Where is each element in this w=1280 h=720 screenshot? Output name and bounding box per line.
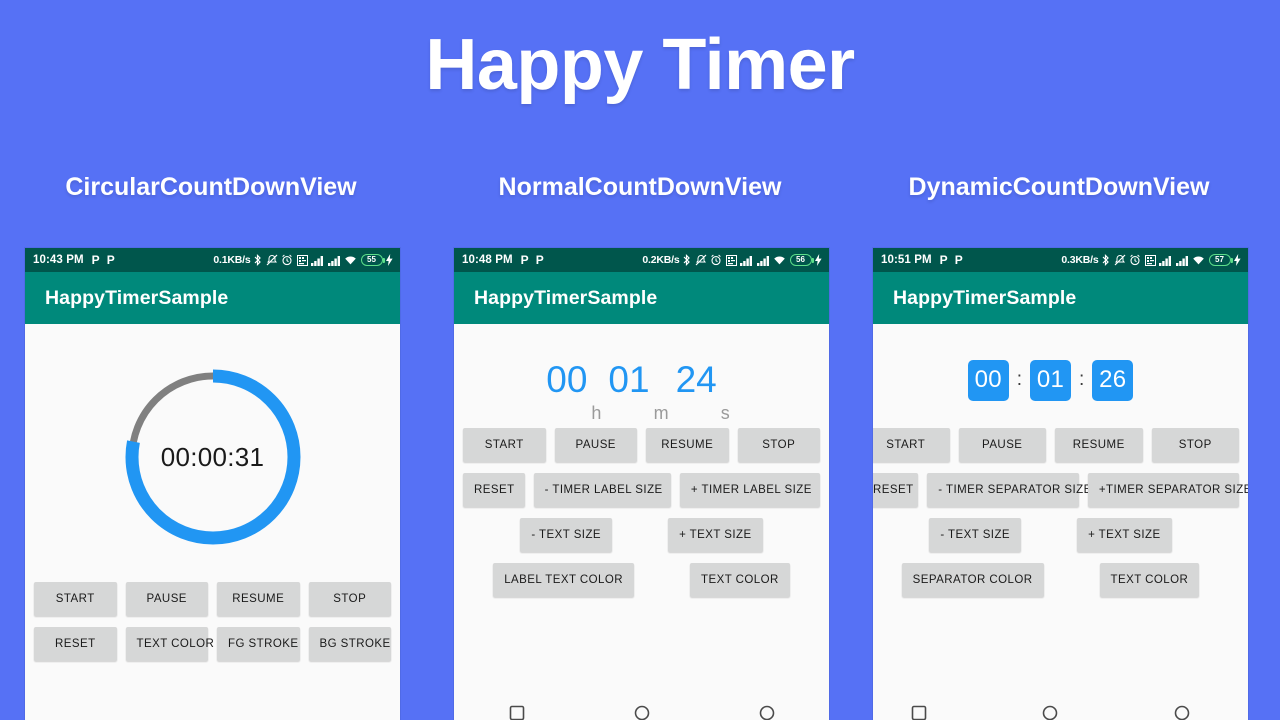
- start-button[interactable]: START: [463, 428, 546, 462]
- resume-button[interactable]: RESUME: [217, 582, 300, 616]
- seconds-label: s: [721, 403, 730, 428]
- start-button[interactable]: START: [873, 428, 950, 462]
- seconds-box: 26: [1092, 360, 1133, 401]
- wifi-icon: [1192, 255, 1205, 266]
- increase-text-size-button[interactable]: + TEXT SIZE: [668, 518, 763, 552]
- phone-screenshot-circular: 10:43 PM P P 0.1KB/s 55: [25, 248, 400, 720]
- button-row: START PAUSE RESUME STOP: [454, 428, 829, 462]
- app-body: 00:00:31 START PAUSE RESUME STOP RESET T…: [25, 324, 400, 720]
- text-color-button[interactable]: TEXT COLOR: [126, 627, 209, 661]
- navigation-bar: [454, 700, 829, 720]
- separator: :: [1013, 369, 1026, 391]
- status-time: 10:51 PM: [881, 254, 932, 266]
- button-row: - TEXT SIZE + TEXT SIZE: [454, 518, 829, 552]
- alarm-icon: [710, 254, 722, 266]
- data-rate-label: 0.1KB/s: [213, 254, 250, 266]
- button-row: LABEL TEXT COLOR TEXT COLOR: [454, 563, 829, 597]
- home-circle-icon[interactable]: [1042, 705, 1058, 720]
- button-row: START PAUSE RESUME STOP: [873, 428, 1248, 462]
- minutes-label: m: [654, 403, 669, 428]
- status-bar: 10:48 PM P P 0.2KB/s 56: [454, 248, 829, 272]
- minutes-value: 01: [608, 359, 649, 401]
- stop-button[interactable]: STOP: [1152, 428, 1240, 462]
- label-text-color-button[interactable]: LABEL TEXT COLOR: [493, 563, 634, 597]
- bluetooth-icon: [254, 254, 262, 266]
- button-row: RESET - TIMER LABEL SIZE + TIMER LABEL S…: [454, 473, 829, 507]
- notification-p-icon: P: [107, 254, 115, 266]
- column-dynamic: DynamicCountDownView 10:51 PM P P 0.3KB/…: [849, 170, 1269, 210]
- sim-icon: [297, 255, 308, 266]
- hours-value: 00: [546, 359, 587, 401]
- app-bar: HappyTimerSample: [454, 272, 829, 324]
- fg-stroke-button[interactable]: FG STROKE: [217, 627, 300, 661]
- reset-button[interactable]: RESET: [873, 473, 918, 507]
- columns-container: CircularCountDownView 10:43 PM P P 0.1KB…: [0, 170, 1280, 720]
- wifi-icon: [344, 255, 357, 266]
- status-bar: 10:43 PM P P 0.1KB/s 55: [25, 248, 400, 272]
- app-bar: HappyTimerSample: [25, 272, 400, 324]
- button-row: START PAUSE RESUME STOP: [25, 582, 400, 616]
- signal-icon: [740, 255, 753, 266]
- app-body: 00 : 01 : 26 START PAUSE RESUME STOP RES…: [873, 324, 1248, 720]
- app-bar-title: HappyTimerSample: [45, 287, 228, 310]
- decrease-text-size-button[interactable]: - TEXT SIZE: [929, 518, 1021, 552]
- recents-circle-icon[interactable]: [1174, 705, 1190, 720]
- resume-button[interactable]: RESUME: [1055, 428, 1143, 462]
- separator: :: [1075, 369, 1088, 391]
- start-button[interactable]: START: [34, 582, 117, 616]
- sim-icon: [1145, 255, 1156, 266]
- back-square-icon[interactable]: [509, 705, 525, 720]
- charging-bolt-icon: [815, 254, 822, 266]
- increase-timer-label-size-button[interactable]: + TIMER LABEL SIZE: [680, 473, 820, 507]
- vibrate-off-icon: [266, 254, 278, 266]
- charging-bolt-icon: [1234, 254, 1241, 266]
- battery-icon: 57: [1209, 254, 1231, 266]
- signal-icon: [328, 255, 341, 266]
- button-row: RESET - TIMER SEPARATOR SIZE +TIMER SEPA…: [873, 473, 1248, 507]
- column-title-normal: NormalCountDownView: [430, 170, 850, 210]
- pause-button[interactable]: PAUSE: [959, 428, 1047, 462]
- button-row: - TEXT SIZE + TEXT SIZE: [873, 518, 1248, 552]
- column-title-dynamic: DynamicCountDownView: [849, 170, 1269, 210]
- home-circle-icon[interactable]: [634, 705, 650, 720]
- status-time: 10:48 PM: [462, 254, 513, 266]
- navigation-bar: [873, 700, 1248, 720]
- column-circular: CircularCountDownView 10:43 PM P P 0.1KB…: [1, 170, 421, 210]
- button-row: SEPARATOR COLOR TEXT COLOR: [873, 563, 1248, 597]
- app-bar-title: HappyTimerSample: [474, 287, 657, 310]
- separator-color-button[interactable]: SEPARATOR COLOR: [902, 563, 1044, 597]
- text-color-button[interactable]: TEXT COLOR: [1100, 563, 1200, 597]
- column-title-circular: CircularCountDownView: [1, 170, 421, 210]
- data-rate-label: 0.2KB/s: [642, 254, 679, 266]
- bluetooth-icon: [683, 254, 691, 266]
- battery-icon: 56: [790, 254, 812, 266]
- decrease-text-size-button[interactable]: - TEXT SIZE: [520, 518, 612, 552]
- text-color-button[interactable]: TEXT COLOR: [690, 563, 790, 597]
- minutes-box: 01: [1030, 360, 1071, 401]
- stop-button[interactable]: STOP: [738, 428, 821, 462]
- data-rate-label: 0.3KB/s: [1061, 254, 1098, 266]
- seconds-value: 24: [676, 359, 717, 401]
- resume-button[interactable]: RESUME: [646, 428, 729, 462]
- app-bar: HappyTimerSample: [873, 272, 1248, 324]
- dynamic-countdown-view: 00 : 01 : 26: [873, 332, 1248, 428]
- pause-button[interactable]: PAUSE: [555, 428, 638, 462]
- vibrate-off-icon: [695, 254, 707, 266]
- app-body: 00 h 01 m 24 s START PAUSE RESUME STOP R…: [454, 324, 829, 720]
- stop-button[interactable]: STOP: [309, 582, 392, 616]
- phone-screenshot-normal: 10:48 PM P P 0.2KB/s 56: [454, 248, 829, 720]
- decrease-timer-separator-size-button[interactable]: - TIMER SEPARATOR SIZE: [927, 473, 1079, 507]
- page-title: Happy Timer: [0, 26, 1280, 105]
- sim-icon: [726, 255, 737, 266]
- signal-icon: [1176, 255, 1189, 266]
- alarm-icon: [1129, 254, 1141, 266]
- bg-stroke-button[interactable]: BG STROKE: [309, 627, 392, 661]
- increase-text-size-button[interactable]: + TEXT SIZE: [1077, 518, 1172, 552]
- battery-level: 56: [796, 256, 805, 264]
- battery-level: 55: [367, 256, 376, 264]
- bluetooth-icon: [1102, 254, 1110, 266]
- decrease-timer-label-size-button[interactable]: - TIMER LABEL SIZE: [534, 473, 671, 507]
- status-bar: 10:51 PM P P 0.3KB/s 57: [873, 248, 1248, 272]
- back-square-icon[interactable]: [911, 705, 927, 720]
- circular-countdown-view: 00:00:31: [120, 364, 306, 550]
- pause-button[interactable]: PAUSE: [126, 582, 209, 616]
- button-row: RESET TEXT COLOR FG STROKE BG STROKE: [25, 627, 400, 661]
- hours-box: 00: [968, 360, 1009, 401]
- vibrate-off-icon: [1114, 254, 1126, 266]
- status-time: 10:43 PM: [33, 254, 84, 266]
- notification-p-icon: P: [521, 254, 529, 266]
- notification-p-icon: P: [92, 254, 100, 266]
- circular-timer-wrap: 00:00:31: [25, 332, 400, 582]
- reset-button[interactable]: RESET: [34, 627, 117, 661]
- app-bar-title: HappyTimerSample: [893, 287, 1076, 310]
- notification-p-icon: P: [940, 254, 948, 266]
- increase-timer-separator-size-button[interactable]: +TIMER SEPARATOR SIZE: [1088, 473, 1239, 507]
- normal-countdown-view: 00 h 01 m 24 s: [454, 332, 829, 428]
- column-normal: NormalCountDownView 10:48 PM P P 0.2KB/s: [430, 170, 850, 210]
- phone-screenshot-dynamic: 10:51 PM P P 0.3KB/s 57: [873, 248, 1248, 720]
- charging-bolt-icon: [386, 254, 393, 266]
- notification-p-icon: P: [536, 254, 544, 266]
- signal-icon: [311, 255, 324, 266]
- wifi-icon: [773, 255, 786, 266]
- reset-button[interactable]: RESET: [463, 473, 525, 507]
- alarm-icon: [281, 254, 293, 266]
- battery-level: 57: [1215, 256, 1224, 264]
- recents-circle-icon[interactable]: [759, 705, 775, 720]
- notification-p-icon: P: [955, 254, 963, 266]
- circular-timer-value: 00:00:31: [120, 364, 306, 550]
- signal-icon: [1159, 255, 1172, 266]
- battery-icon: 55: [361, 254, 383, 266]
- hours-label: h: [591, 403, 601, 428]
- signal-icon: [757, 255, 770, 266]
